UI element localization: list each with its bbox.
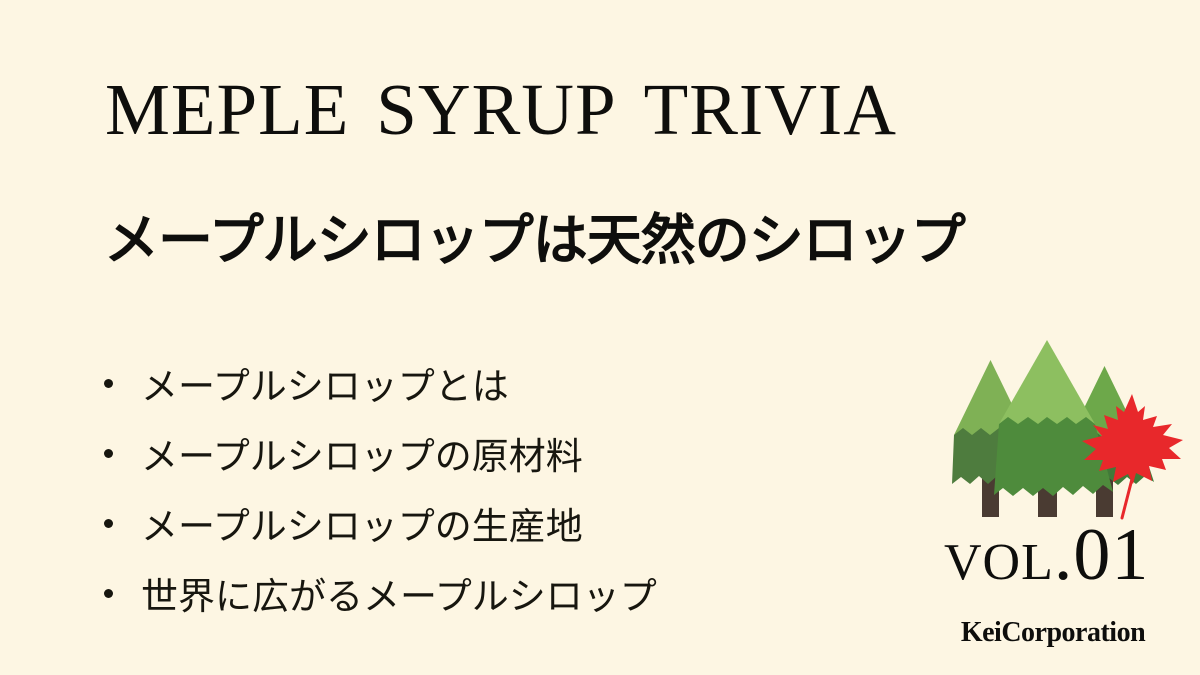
list-item: メープルシロップの原材料 [104,418,657,488]
bullet-dot-icon [104,449,113,458]
page-subtitle: メープルシロップは天然のシロップ [104,207,965,273]
list-item-label: メープルシロップの原材料 [141,426,583,480]
volume-label: Vol.01 [944,518,1149,592]
pine-trees-and-maple-leaf-illustration [950,332,1185,522]
list-item: メープルシロップの生産地 [104,488,657,558]
brand-name: KeiCorporation [925,617,1181,649]
topic-list: メープルシロップとは メープルシロップの原材料 メープルシロップの生産地 世界に… [104,348,657,628]
list-item-label: メープルシロップとは [141,356,509,410]
list-item-label: メープルシロップの生産地 [141,496,583,550]
slide-canvas: Meple syrup Trivia メープルシロップは天然のシロップ メープル… [0,0,1200,675]
bullet-dot-icon [104,589,113,598]
page-title: Meple syrup Trivia [105,48,897,152]
list-item: メープルシロップとは [104,348,657,418]
bullet-dot-icon [104,379,113,388]
pine-tree-center-icon [994,340,1113,517]
list-item-label: 世界に広がるメープルシロップ [141,566,657,620]
list-item: 世界に広がるメープルシロップ [104,558,657,628]
bullet-dot-icon [104,519,113,528]
